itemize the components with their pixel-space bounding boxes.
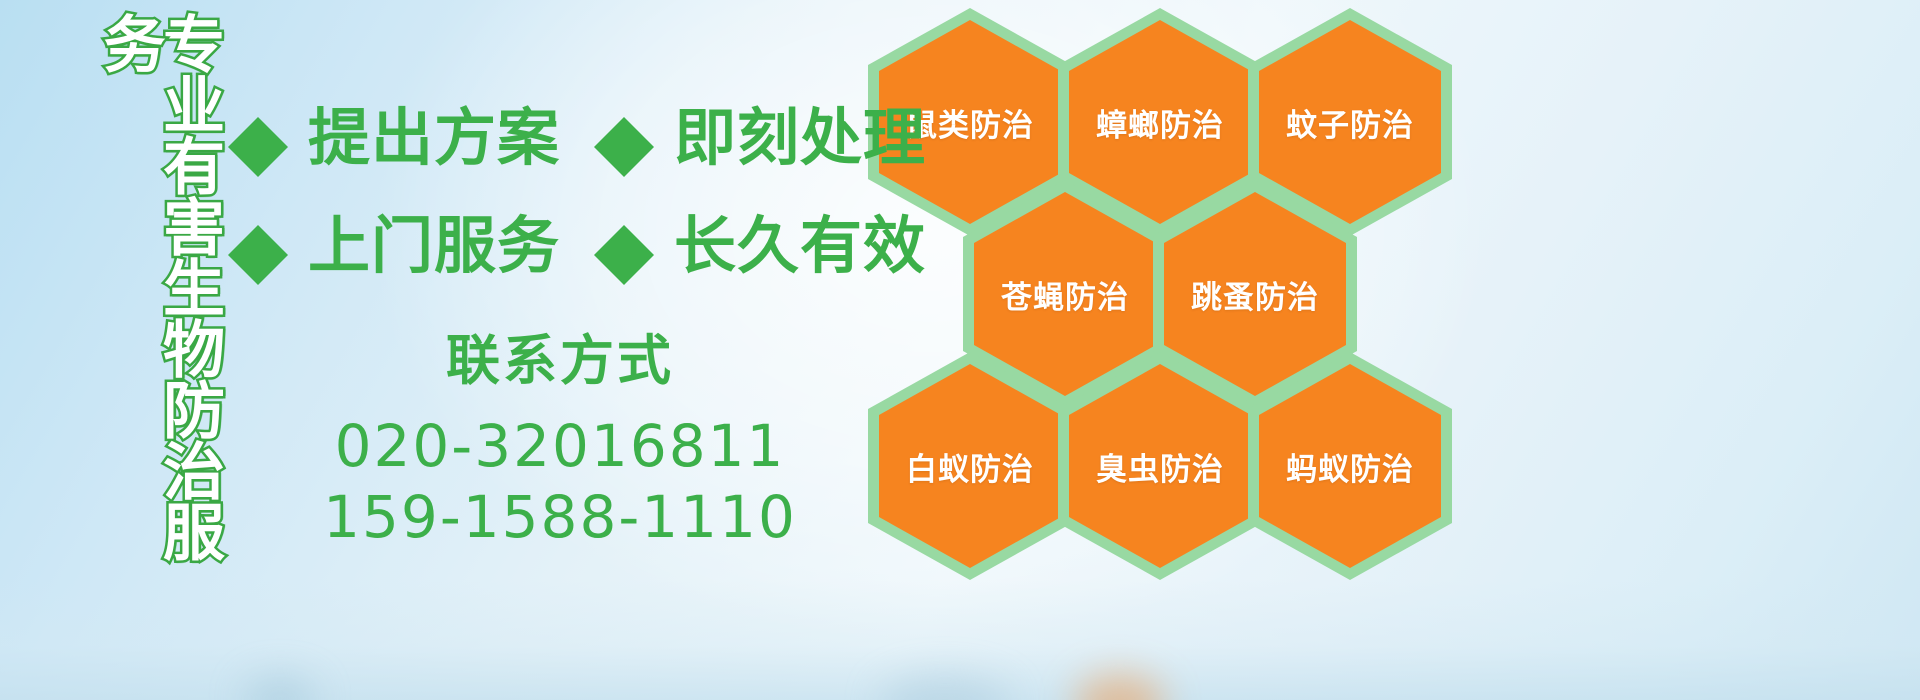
feature-item: 长久有效 — [594, 195, 926, 285]
feature-label: 上门服务 — [308, 195, 560, 285]
contact-phone-landline[interactable]: 020-32016811 — [310, 411, 810, 482]
service-label: 白蚁防治 — [906, 444, 1034, 489]
feature-item: 上门服务 — [228, 195, 560, 285]
service-label: 跳蚤防治 — [1191, 272, 1319, 317]
feature-item: 即刻处理 — [594, 87, 926, 177]
service-label: 苍蝇防治 — [1001, 272, 1129, 317]
background-blur-blob — [245, 678, 315, 700]
feature-list: 提出方案 即刻处理 上门服务 长久有效 — [228, 78, 926, 294]
background-blur-blob — [880, 676, 1010, 700]
feature-item: 提出方案 — [228, 87, 560, 177]
service-label: 蚊子防治 — [1286, 100, 1414, 145]
contact-block: 联系方式 020-32016811 159-1588-1110 — [310, 316, 810, 553]
service-hex-bedbug[interactable]: 臭虫防治 — [1058, 352, 1262, 580]
contact-heading: 联系方式 — [310, 316, 810, 395]
contact-phone-mobile[interactable]: 159-1588-1110 — [310, 482, 810, 553]
vertical-headline: 专业有害生物防治服务 — [108, 12, 218, 592]
service-hex-termite[interactable]: 白蚁防治 — [868, 352, 1072, 580]
service-honeycomb: 鼠类防治 蟑螂防治 蚊子防治 苍蝇防治 跳蚤防治 白蚁防治 — [862, 0, 1482, 560]
diamond-bullet-icon — [594, 195, 654, 255]
feature-row: 提出方案 即刻处理 — [228, 78, 926, 186]
diamond-bullet-icon — [228, 87, 288, 147]
service-label: 臭虫防治 — [1096, 444, 1224, 489]
feature-label: 提出方案 — [308, 87, 560, 177]
service-hex-ant[interactable]: 蚂蚁防治 — [1248, 352, 1452, 580]
background-blur-blob — [1075, 674, 1165, 700]
service-label: 蚂蚁防治 — [1286, 444, 1414, 489]
service-label: 蟑螂防治 — [1096, 100, 1224, 145]
pest-control-banner: 专业有害生物防治服务 提出方案 即刻处理 上门服务 长久有效 — [0, 0, 1920, 700]
feature-label: 即刻处理 — [674, 87, 926, 177]
feature-label: 长久有效 — [674, 195, 926, 285]
diamond-bullet-icon — [228, 195, 288, 255]
feature-row: 上门服务 长久有效 — [228, 186, 926, 294]
diamond-bullet-icon — [594, 87, 654, 147]
